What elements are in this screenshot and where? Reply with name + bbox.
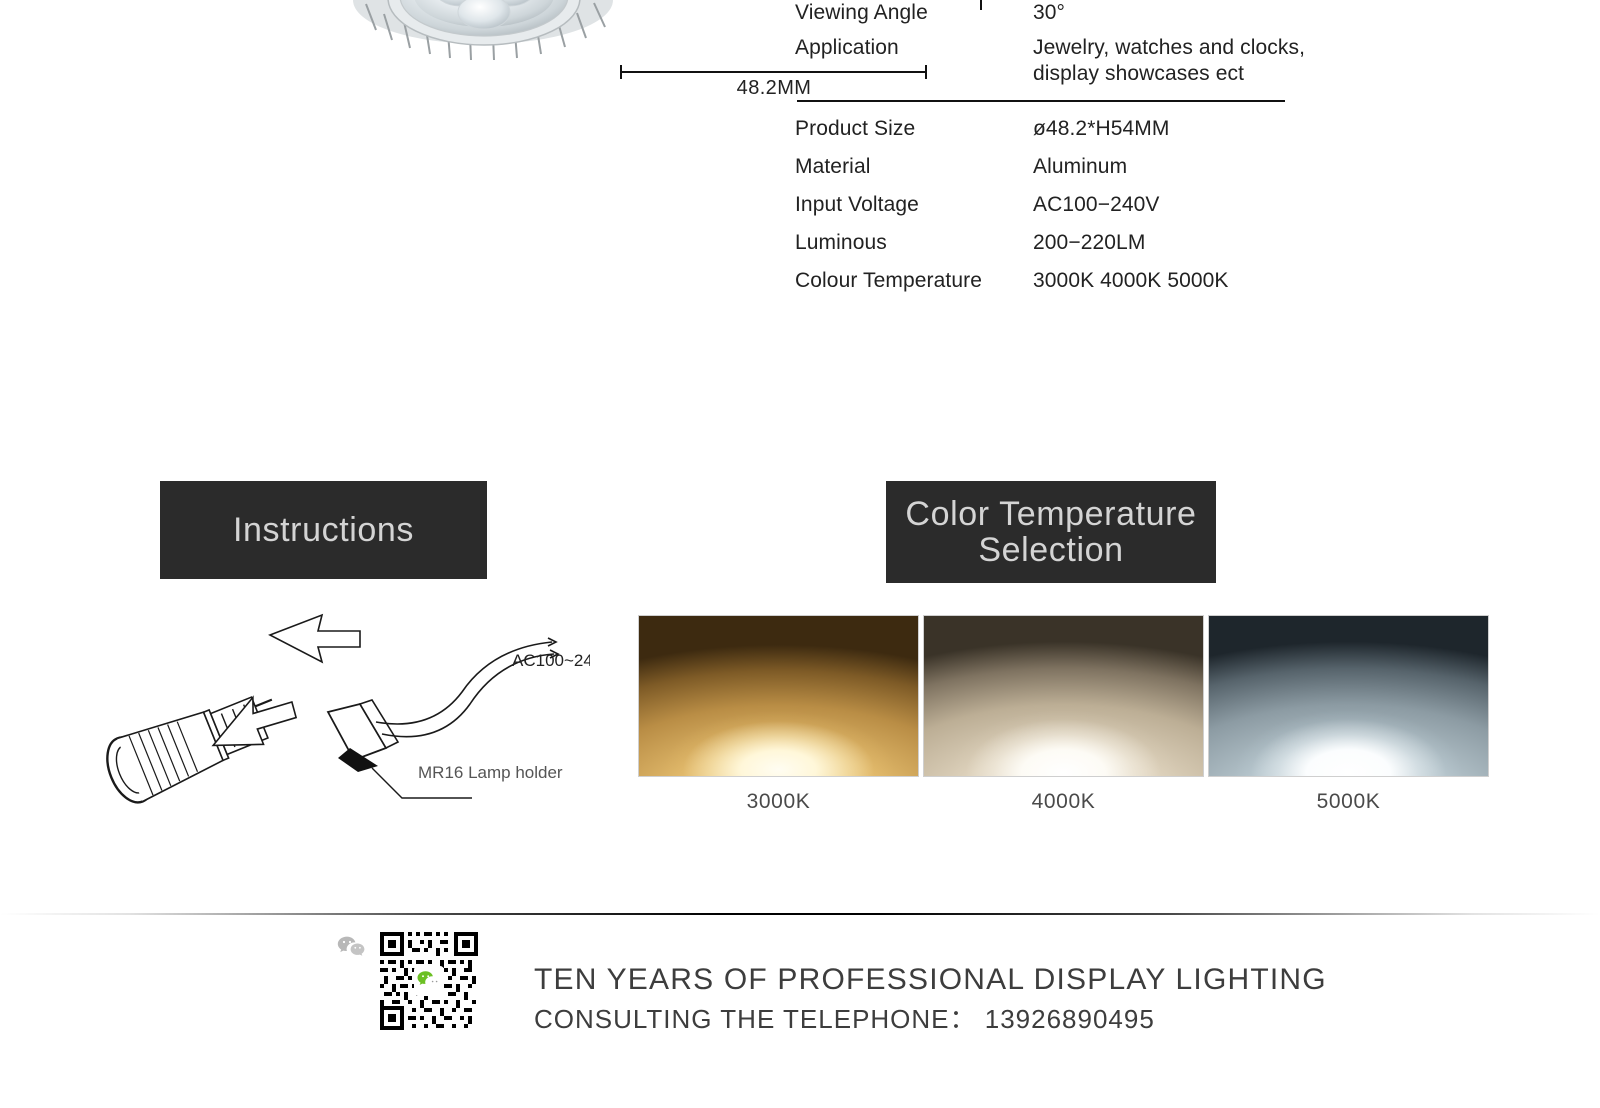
spec-row: Input Voltage AC100−240V xyxy=(795,192,1355,218)
spec-value: 200−220LM xyxy=(1033,230,1145,256)
cct-label-4000k: 4000K xyxy=(923,790,1204,814)
spec-row: Application Jewelry, watches and clocks,… xyxy=(795,35,1355,87)
color-temperature-labels: 3000K 4000K 5000K xyxy=(638,790,1490,814)
footer-text-block: TEN YEARS OF PROFESSIONAL DISPLAY LIGHTI… xyxy=(534,960,1414,1038)
spec-label: Input Voltage xyxy=(795,192,1033,218)
spec-group-primary: Viewing Angle 30° Application Jewelry, w… xyxy=(795,0,1355,87)
section-banner-color-temperature: Color Temperature Selection xyxy=(886,481,1216,583)
footer: TEN YEARS OF PROFESSIONAL DISPLAY LIGHTI… xyxy=(336,930,1436,1060)
wechat-icon xyxy=(336,934,366,960)
spec-row: Viewing Angle 30° xyxy=(795,0,1355,26)
spec-value: 30° xyxy=(1033,0,1065,26)
footer-contact: CONSULTING THE TELEPHONE： 13926890495 xyxy=(534,1000,1414,1038)
diagram-label-wire-voltage: AC100~240V xyxy=(512,651,590,670)
spec-value: AC100−240V xyxy=(1033,192,1160,218)
cct-swatch-5000k[interactable] xyxy=(1208,615,1489,777)
product-image-area: 48.2MM xyxy=(300,0,700,230)
spec-group-secondary: Product Size ø48.2*H54MM Material Alumin… xyxy=(795,116,1355,294)
footer-tagline: TEN YEARS OF PROFESSIONAL DISPLAY LIGHTI… xyxy=(534,960,1414,1000)
cct-swatch-3000k[interactable] xyxy=(638,615,919,777)
spec-label: Luminous xyxy=(795,230,1033,256)
spec-row: Luminous 200−220LM xyxy=(795,230,1355,256)
spec-label: Viewing Angle xyxy=(795,0,1033,26)
beam-pattern-cool xyxy=(1209,616,1488,776)
spec-row: Colour Temperature 3000K 4000K 5000K xyxy=(795,268,1355,294)
beam-pattern-warm xyxy=(639,616,918,776)
spec-value: ø48.2*H54MM xyxy=(1033,116,1169,142)
section-banner-instructions: Instructions xyxy=(160,481,487,579)
cct-label-3000k: 3000K xyxy=(638,790,919,814)
cct-label-5000k: 5000K xyxy=(1208,790,1489,814)
spec-value: Aluminum xyxy=(1033,154,1127,180)
color-temperature-swatch-strip xyxy=(638,615,1490,777)
section-banner-title: Instructions xyxy=(233,512,414,548)
cct-swatch-4000k[interactable] xyxy=(923,615,1204,777)
spec-table-divider xyxy=(797,100,1285,102)
qr-center-wechat-logo xyxy=(414,966,444,996)
spec-value: 3000K 4000K 5000K xyxy=(1033,268,1229,294)
diagram-label-lamp-holder: MR16 Lamp holder xyxy=(418,763,563,782)
spec-label: Material xyxy=(795,154,1033,180)
spec-label: Application xyxy=(795,35,1033,61)
spec-value: Jewelry, watches and clocks, display sho… xyxy=(1033,35,1305,87)
footer-divider xyxy=(0,913,1600,915)
spec-row: Product Size ø48.2*H54MM xyxy=(795,116,1355,142)
instructions-diagram: AC100~240V MR16 Lamp holder xyxy=(60,600,590,890)
product-photo-mr16-spotlight xyxy=(318,0,648,170)
wechat-logo-green-icon xyxy=(416,970,442,992)
section-banner-title: Color Temperature Selection xyxy=(905,496,1196,568)
beam-pattern-neutral xyxy=(924,616,1203,776)
spec-label: Colour Temperature xyxy=(795,268,1033,294)
specification-table: Viewing Angle 30° Application Jewelry, w… xyxy=(795,0,1355,306)
wechat-qr-code[interactable] xyxy=(378,930,480,1032)
spec-label: Product Size xyxy=(795,116,1033,142)
spec-row: Material Aluminum xyxy=(795,154,1355,180)
